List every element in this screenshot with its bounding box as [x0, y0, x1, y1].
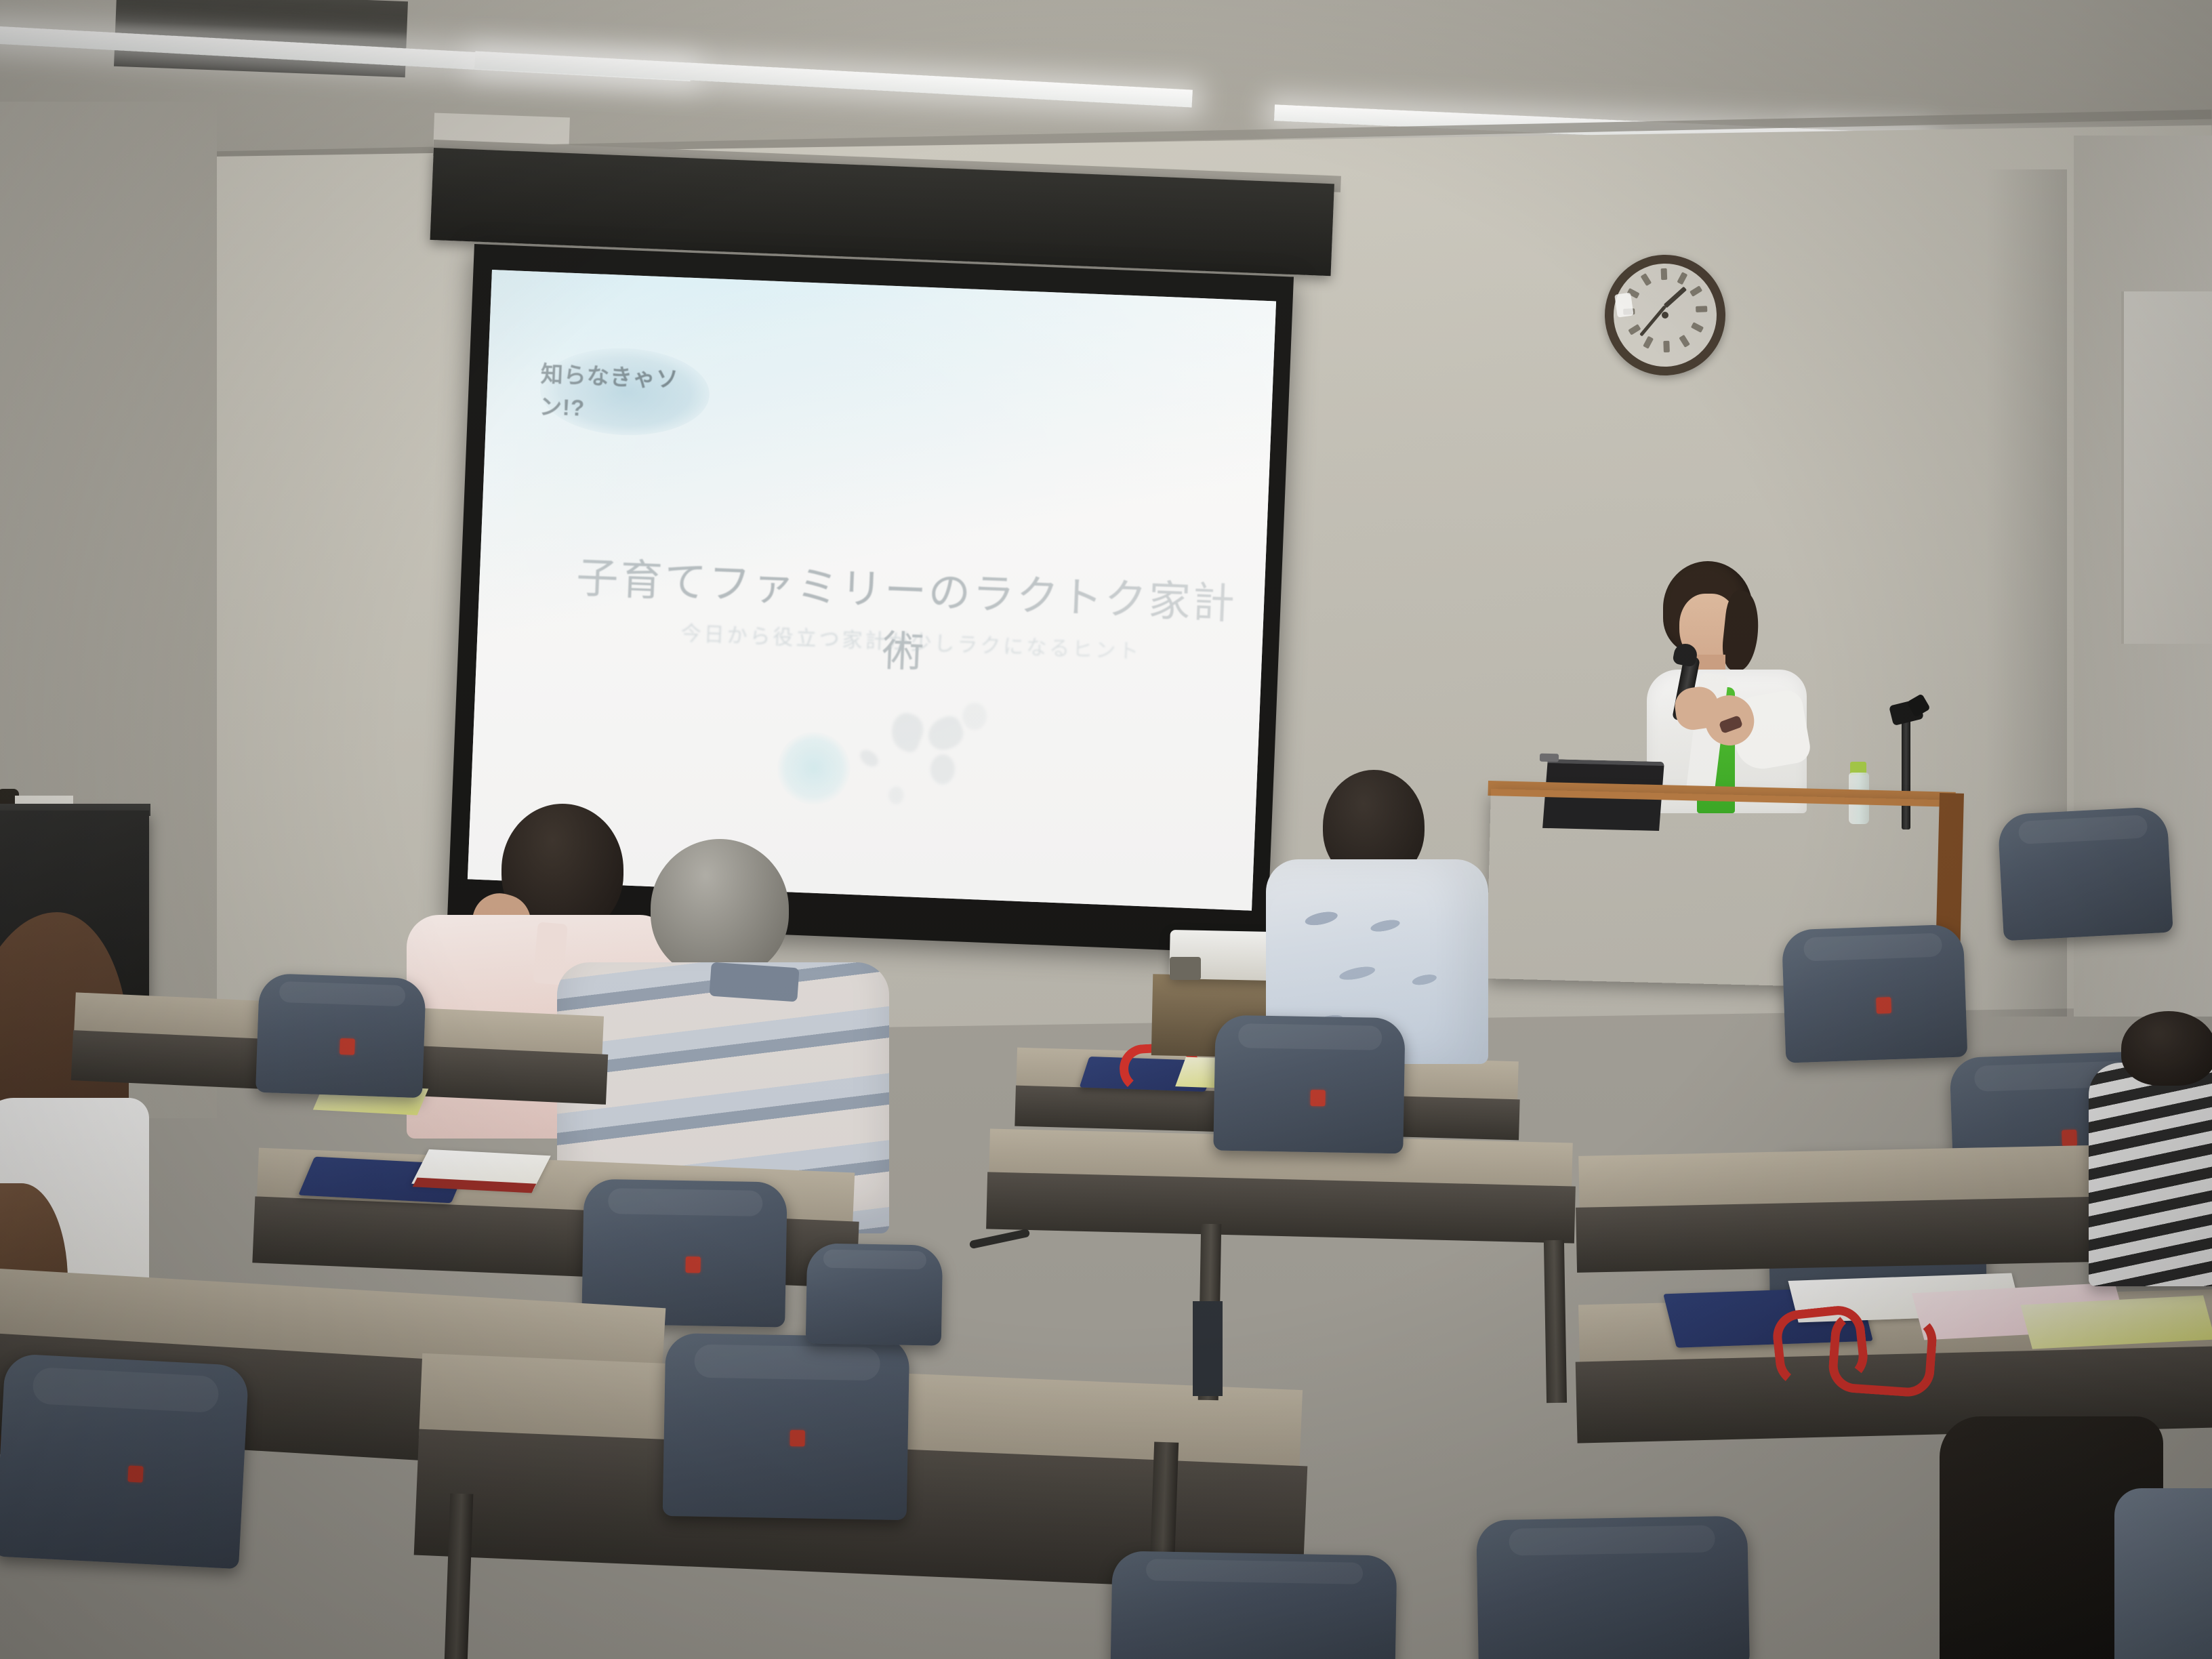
clock-tick — [1661, 268, 1668, 280]
attendee-body — [2114, 1488, 2212, 1659]
leaflet-green — [2020, 1295, 2212, 1349]
chair[interactable] — [1476, 1516, 1750, 1659]
clock-hour-hand — [1663, 287, 1686, 308]
laptop-hinge — [1540, 754, 1559, 762]
clock-tick — [1663, 341, 1670, 352]
attendee-head — [651, 839, 789, 979]
chair[interactable] — [255, 973, 426, 1098]
chair[interactable] — [1997, 806, 2173, 941]
attendee-body — [2089, 1063, 2212, 1286]
clock-tick — [1641, 273, 1652, 286]
attendee-head — [2121, 1011, 2212, 1086]
clock-tick — [1643, 336, 1654, 349]
slide-illustration-dot — [776, 731, 852, 806]
chair-post — [1193, 1301, 1223, 1396]
slide-illustration-shape-5 — [962, 702, 987, 730]
clock-tick — [1679, 335, 1690, 348]
chair[interactable] — [663, 1333, 910, 1520]
slide-illustration — [754, 687, 1004, 846]
chair-logo-icon — [127, 1466, 143, 1483]
clock-glare — [1614, 293, 1633, 318]
chair-logo-icon — [790, 1430, 804, 1446]
clock-tick — [1689, 285, 1702, 297]
presenter — [1640, 561, 1816, 812]
desk-leg — [1544, 1240, 1567, 1403]
clock-tick — [1696, 306, 1707, 312]
chair[interactable] — [0, 1353, 249, 1569]
chair-logo-icon — [1876, 997, 1891, 1014]
tote-bag-handle — [1770, 1303, 1870, 1390]
clock-center-hub — [1662, 312, 1668, 319]
chair-logo-icon — [2062, 1130, 2077, 1147]
right-wall-panel — [2121, 291, 2212, 644]
chair-logo-icon — [1310, 1090, 1325, 1106]
chair[interactable] — [1782, 924, 1968, 1063]
slide-illustration-shape-4 — [857, 747, 882, 770]
slide-illustration-shape-3 — [930, 754, 956, 785]
clock-tick — [1677, 272, 1687, 285]
clock-minute-hand — [1639, 305, 1666, 336]
chair-logo-icon — [340, 1038, 355, 1055]
chair[interactable] — [806, 1243, 943, 1345]
power-cable — [969, 1229, 1031, 1249]
slide-illustration-shape-2 — [923, 712, 967, 754]
projector-lens — [1170, 957, 1201, 980]
slide-illustration-shape-6 — [888, 786, 904, 804]
attendee-collar — [709, 962, 799, 1002]
chair[interactable] — [1213, 1015, 1405, 1154]
slide-badge-label: 知らなきゃソン!? — [539, 356, 711, 428]
chair[interactable] — [1110, 1551, 1397, 1659]
chair-logo-icon — [685, 1256, 700, 1273]
ceiling-speaker-2 — [1999, 64, 2169, 100]
clock-tick — [1691, 322, 1704, 333]
slide-illustration-shape-1 — [886, 710, 928, 755]
screenshot-root: 知らなきゃソン!? 子育てファミリーのラクトク家計術 今日から役立つ家計が少しラ… — [0, 0, 2212, 1659]
